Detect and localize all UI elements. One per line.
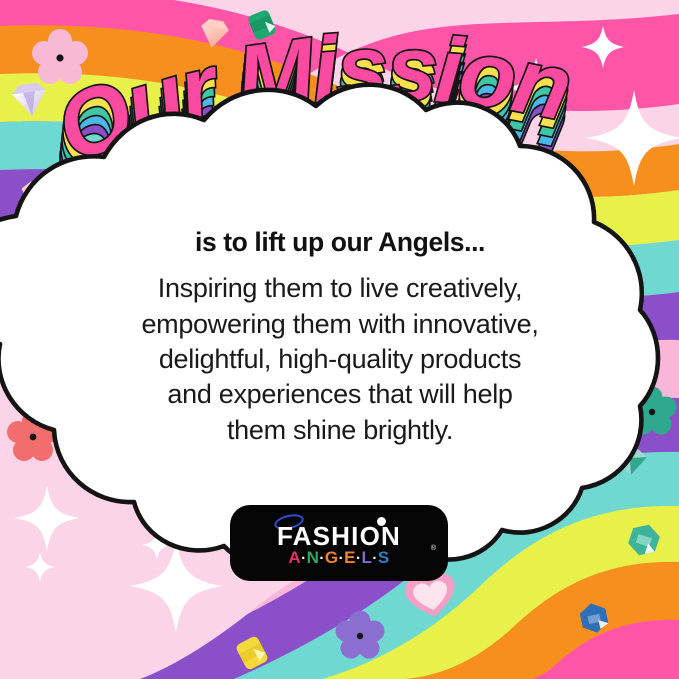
registered-mark: ® xyxy=(431,545,436,552)
logo-word-angels: A·N·G·E·L·S xyxy=(244,549,434,566)
logo-letter-a: A xyxy=(288,549,301,566)
logo-letter-g: G xyxy=(325,549,339,566)
cloud-shape xyxy=(0,85,658,571)
logo-word-fashion: FASHION xyxy=(244,523,434,549)
logo-letter-n: N xyxy=(307,549,320,566)
logo-letter-s: S xyxy=(378,549,390,566)
logo-letter-l: L xyxy=(361,549,372,566)
i-dot-icon xyxy=(377,517,386,526)
poster-canvas: Our Mission Our Mission Our Mission Our … xyxy=(0,0,679,679)
logo-letter-e: E xyxy=(344,549,356,566)
fashion-angels-logo: FASHION A·N·G·E·L·S ® xyxy=(230,505,448,581)
